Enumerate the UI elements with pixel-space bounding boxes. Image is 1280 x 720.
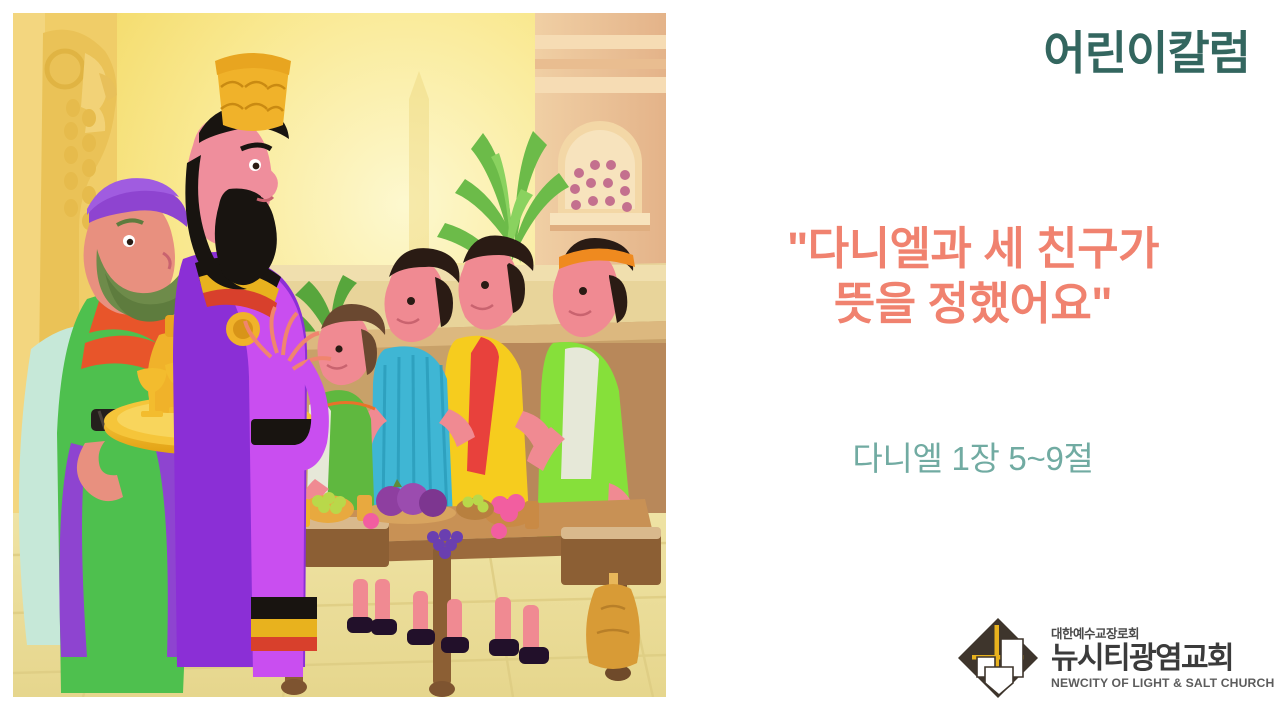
- illustration-image: [13, 13, 666, 697]
- scripture-reference: 다니엘 1장 5~9절: [666, 432, 1280, 480]
- illustration-svg: [13, 13, 666, 697]
- logo-church-name: 뉴시티광염교회: [1051, 642, 1274, 676]
- church-logo-mark-icon: [955, 615, 1041, 701]
- title-line-2: 뜻을 정했어요": [666, 277, 1280, 332]
- church-logo: 대한예수교장로회 뉴시티광염교회 NEWCITY OF LIGHT & SALT…: [955, 612, 1255, 704]
- title-block: "다니엘과 세 친구가 뜻을 정했어요": [666, 222, 1280, 332]
- illustration-scene: [13, 13, 666, 697]
- logo-english-name: NEWCITY OF LIGHT & SALT CHURCH: [1051, 676, 1274, 691]
- slide-canvas: 어린이칼럼 "다니엘과 세 친구가 뜻을 정했어요" 다니엘 1장 5~9절 대…: [0, 0, 1280, 720]
- church-logo-text: 대한예수교장로회 뉴시티광염교회 NEWCITY OF LIGHT & SALT…: [1051, 625, 1274, 690]
- column-badge-label: 어린이칼럼: [666, 28, 1250, 79]
- title-line-1: "다니엘과 세 친구가: [666, 222, 1280, 277]
- logo-denomination: 대한예수교장로회: [1051, 627, 1274, 642]
